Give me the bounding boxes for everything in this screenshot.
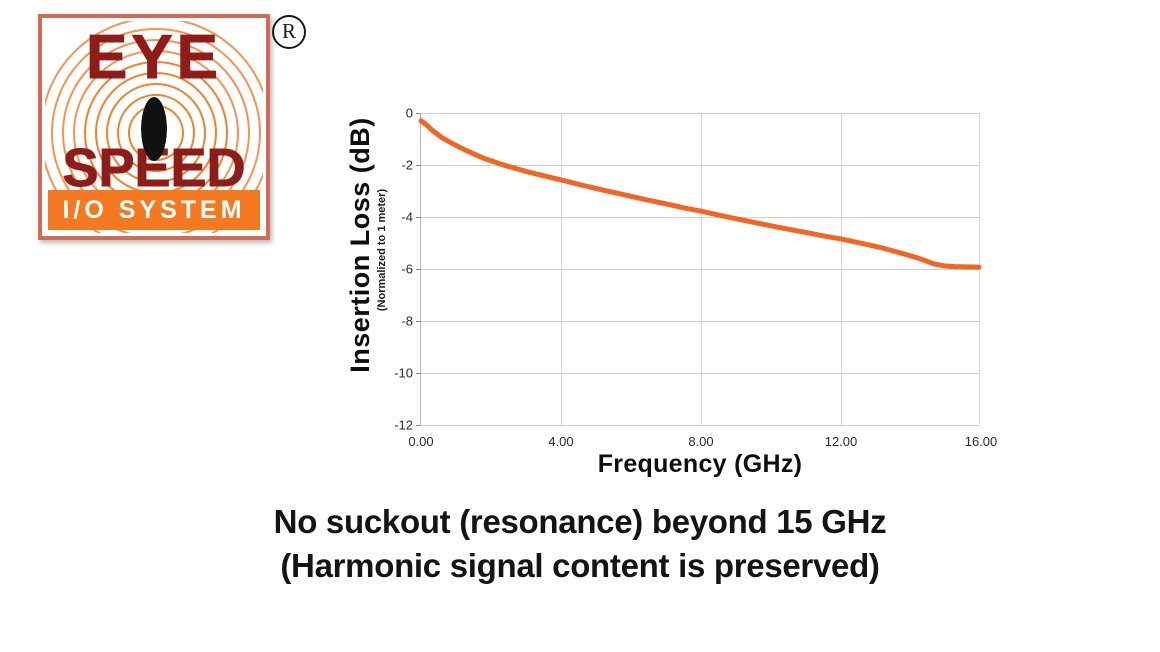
insertion-loss-chart: Insertion Loss (dB) (Normalized to 1 met… (330, 95, 1030, 490)
x-axis-title: Frequency (GHz) (420, 450, 980, 479)
y-tick-mark (416, 373, 421, 374)
y-tick-label: -6 (401, 262, 413, 277)
registered-trademark-icon: R (272, 15, 306, 49)
y-tick-label: -12 (394, 418, 413, 433)
y-tick-label: 0 (406, 106, 413, 121)
curve-path (421, 121, 979, 267)
logo-banner-label: I/O SYSTEM (62, 196, 245, 225)
gridline-horizontal (421, 425, 979, 426)
y-tick-mark (416, 113, 421, 114)
plot-wrapper: 0-2-4-6-8-10-12 0.004.008.0012.0016.00 (420, 113, 980, 425)
y-tick-mark (416, 425, 421, 426)
y-tick-label: -10 (394, 366, 413, 381)
caption-line-2: (Harmonic signal content is preserved) (0, 544, 1160, 588)
caption-block: No suckout (resonance) beyond 15 GHz (Ha… (0, 500, 1160, 588)
logo-word-eye: EYE (86, 27, 222, 89)
y-tick-mark (416, 165, 421, 166)
logo-artwork: EYE SPEED I/O SYSTEM (45, 21, 263, 233)
y-tick-label: -4 (401, 210, 413, 225)
eye-pupil-icon (141, 97, 167, 161)
logo-block: EYE SPEED I/O SYSTEM (38, 14, 270, 240)
y-tick-label: -8 (401, 314, 413, 329)
y-axis-subtitle: (Normalized to 1 meter) (372, 135, 392, 365)
logo-frame: EYE SPEED I/O SYSTEM (38, 14, 270, 240)
caption-line-1: No suckout (resonance) beyond 15 GHz (0, 500, 1160, 544)
plot-area: 0-2-4-6-8-10-12 0.004.008.0012.0016.00 (420, 113, 980, 425)
x-tick-label: 16.00 (965, 434, 998, 449)
y-tick-mark (416, 321, 421, 322)
y-tick-label: -2 (401, 158, 413, 173)
x-tick-label: 4.00 (548, 434, 573, 449)
logo-banner: I/O SYSTEM (48, 190, 260, 230)
y-tick-mark (416, 269, 421, 270)
y-tick-mark (416, 217, 421, 218)
insertion-loss-curve (421, 113, 979, 424)
x-tick-label: 0.00 (408, 434, 433, 449)
x-tick-label: 8.00 (688, 434, 713, 449)
x-tick-label: 12.00 (825, 434, 858, 449)
